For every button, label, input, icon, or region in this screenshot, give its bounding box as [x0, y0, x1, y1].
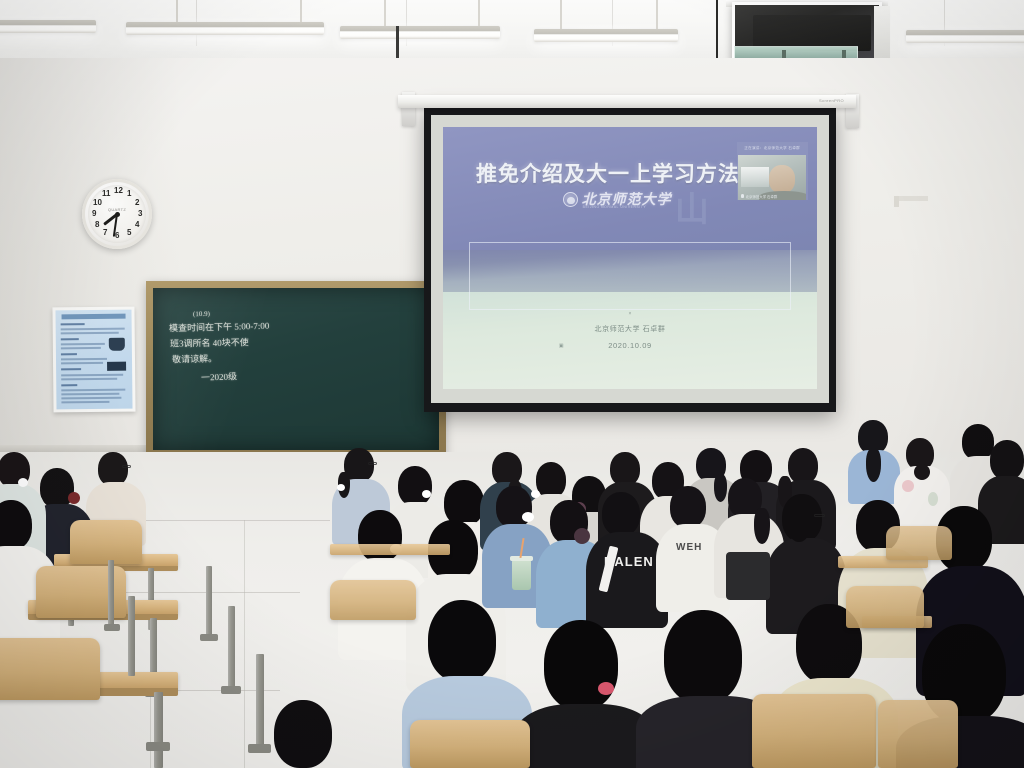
blackboard: (10.9) 模查时间在下午 5:00-7:00 班3调所名 40块不使 敬请谅… — [146, 281, 446, 457]
pip-person-head — [769, 165, 795, 193]
clock-number: 1 — [127, 190, 131, 198]
clock-number: 2 — [135, 199, 139, 207]
clock-number: 7 — [103, 229, 107, 237]
chair-back — [752, 694, 876, 768]
clock-number: 11 — [102, 190, 110, 198]
chalk-line: 敬请谅解。 — [172, 352, 217, 366]
poster-title-bar — [62, 314, 126, 320]
poster-figure-1 — [109, 338, 125, 351]
clock-center-pin — [115, 212, 120, 217]
hanging-cable — [716, 0, 718, 62]
clock-face: 12 1 2 3 4 5 6 7 8 9 10 11 QUARTZ — [88, 185, 146, 243]
chair-back — [410, 720, 530, 768]
desk-leg — [256, 654, 264, 750]
chalk-line: 班3调所名 40块不使 — [170, 335, 249, 349]
clock-number: 3 — [138, 210, 142, 218]
university-name-en: BEIJING NORMAL UNIVERSITY — [583, 205, 647, 209]
chalk-line: 模查时间在下午 5:00-7:00 — [169, 319, 270, 335]
clock-number: 9 — [92, 210, 96, 218]
desk-leg — [228, 606, 235, 692]
chair-back — [70, 520, 142, 564]
ceiling-light-tube — [340, 26, 500, 39]
desk-top — [330, 544, 450, 555]
screen-housing: ScreenPRO — [398, 95, 856, 108]
classroom-scene: 12 1 2 3 4 5 6 7 8 9 10 11 QUARTZ — [0, 0, 1024, 768]
clock-number: 12 — [114, 187, 123, 195]
slide-subtitle-mark: × — [443, 311, 817, 317]
clock-number: 10 — [93, 199, 102, 207]
chalk-line: 一2020级 — [201, 369, 237, 383]
pip-name-badge: 北京师范大学 石卓群 — [741, 194, 777, 199]
university-seal-icon — [563, 192, 578, 207]
ceiling-light-tube — [0, 20, 96, 33]
ceiling-light-tube — [126, 22, 324, 35]
screen-surface: 山 北京师范大学 BEIJING NORMAL UNIVERSITY 推免介绍及… — [431, 115, 829, 403]
pip-name-text: 北京师范大学 石卓群 — [746, 194, 777, 199]
projection-screen: 山 北京师范大学 BEIJING NORMAL UNIVERSITY 推免介绍及… — [424, 106, 836, 412]
chair-back — [330, 580, 416, 620]
pip-video-feed: 北京师范大学 石卓群 — [738, 155, 806, 200]
chair-back — [886, 526, 952, 560]
wall-clock: 12 1 2 3 4 5 6 7 8 9 10 11 QUARTZ — [82, 179, 152, 249]
pip-speaker-label: 正在演讲：北京师范大学 石卓群 — [737, 142, 808, 155]
microphone-icon — [741, 194, 744, 198]
chair-back — [878, 700, 958, 768]
ceiling-light-tube — [534, 29, 678, 42]
slide-watermark: 山 — [675, 182, 711, 231]
ceiling-light-tube — [906, 30, 1024, 43]
wall-bracket-clip — [894, 196, 899, 207]
slide-author: 北京师范大学 石卓群 — [443, 324, 817, 334]
screen-brand-label: ScreenPRO — [819, 98, 844, 103]
chair-back — [0, 638, 100, 700]
wall-notice-poster — [52, 307, 135, 413]
drink-cup — [512, 560, 531, 590]
slide-title-frame — [469, 242, 791, 310]
white-hoodie-text: WEH — [676, 542, 702, 553]
blackboard-surface: (10.9) 模查时间在下午 5:00-7:00 班3调所名 40块不使 敬请谅… — [153, 288, 439, 450]
webcam-pip[interactable]: 正在演讲：北京师范大学 石卓群 北京师范大学 石卓群 — [737, 142, 808, 200]
clock-number: 6 — [115, 232, 119, 240]
university-logo: 北京师范大学 BEIJING NORMAL UNIVERSITY — [563, 189, 672, 209]
clock-number: 8 — [95, 221, 99, 229]
chair-back — [846, 586, 924, 628]
desk-leg — [206, 566, 212, 640]
poster-figure-2 — [107, 362, 126, 371]
clock-number: 5 — [127, 229, 131, 237]
eyeglasses — [122, 465, 131, 468]
eyeglasses — [368, 462, 377, 465]
clock-number: 4 — [135, 221, 139, 229]
chalk-line: (10.9) — [193, 310, 210, 318]
slide-date: 2020.10.09 — [443, 341, 817, 350]
wall-bracket — [896, 196, 928, 201]
eyeglasses — [814, 514, 825, 517]
backpack — [726, 552, 770, 600]
presentation-slide: 山 北京师范大学 BEIJING NORMAL UNIVERSITY 推免介绍及… — [443, 127, 817, 389]
